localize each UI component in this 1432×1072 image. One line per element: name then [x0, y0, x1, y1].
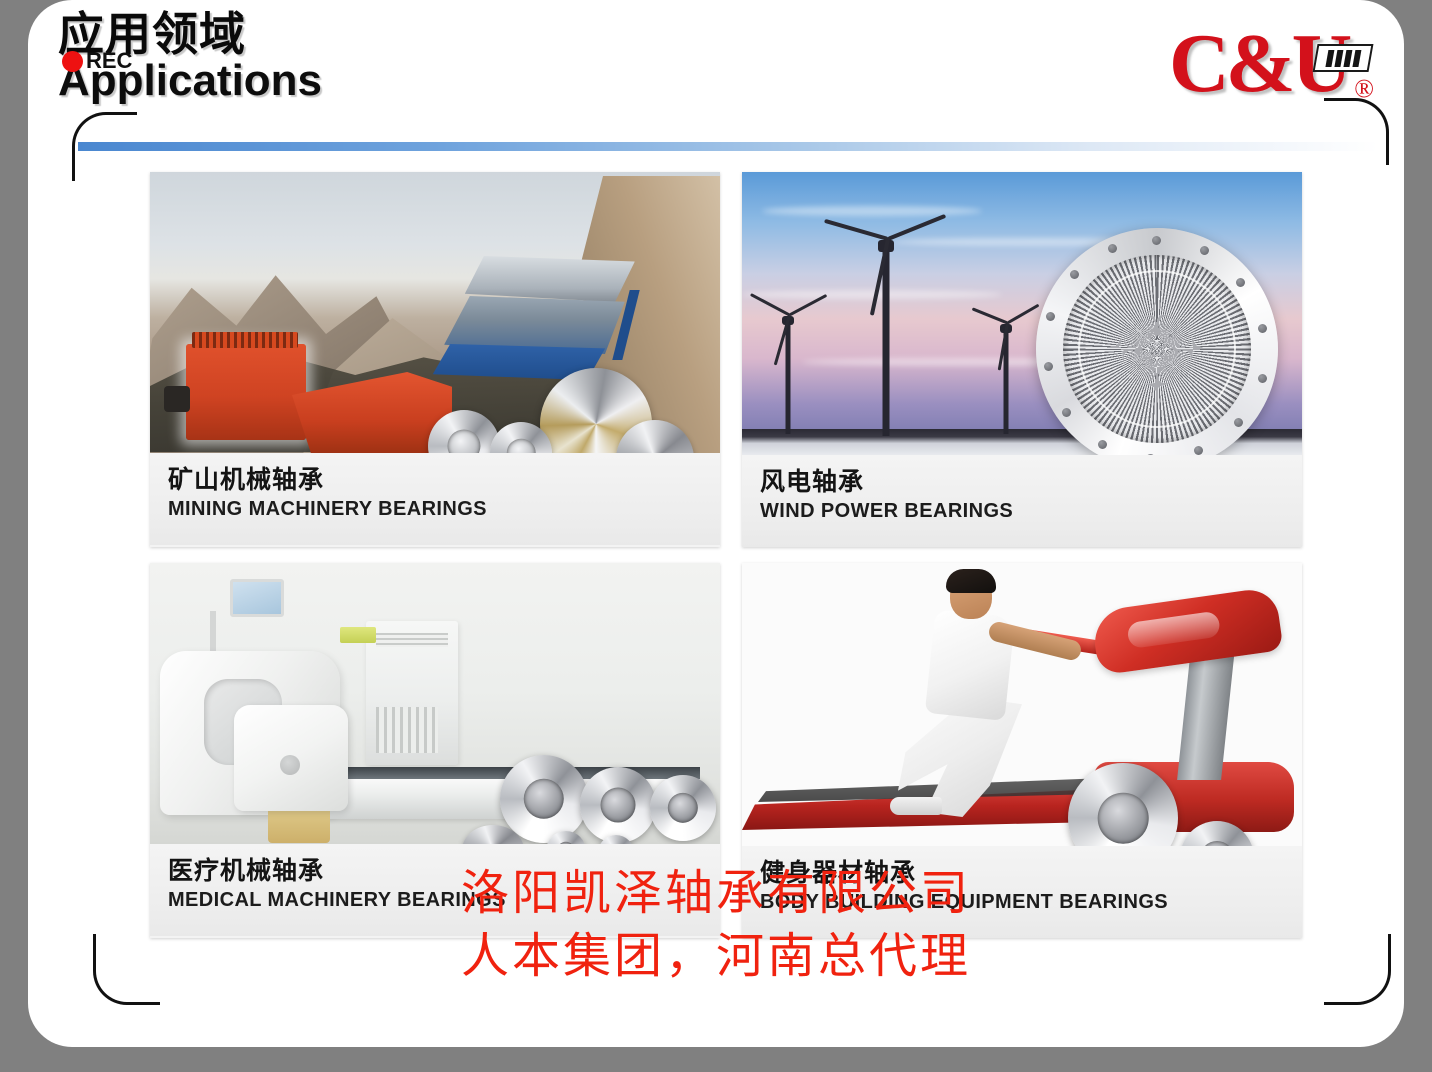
medical-cabinet-illustration	[366, 621, 458, 765]
wind-turbine	[986, 320, 1026, 432]
slide-panel: 应用领域 Applications REC C&U ®	[28, 0, 1404, 1047]
card-photo-wind-power	[742, 172, 1302, 455]
wind-turbine	[856, 236, 916, 434]
card-photo-body-building	[742, 563, 1302, 846]
card-title-en: BODY BUILDING EQUIPMENT BEARINGS	[760, 890, 1302, 915]
application-card-wind-power[interactable]: 风电轴承 WIND POWER BEARINGS	[742, 172, 1302, 547]
card-title-en: WIND POWER BEARINGS	[760, 499, 1302, 524]
card-title-cn: 健身器材轴承	[760, 858, 1302, 888]
deep-groove-ball-bearing	[580, 767, 656, 843]
corner-bracket-top-right	[1324, 98, 1389, 165]
card-caption-mining: 矿山机械轴承 MINING MACHINERY BEARINGS	[150, 453, 720, 545]
rec-indicator: REC	[62, 50, 132, 72]
brand-logo: C&U ®	[1169, 22, 1374, 106]
card-title-en: MINING MACHINERY BEARINGS	[168, 497, 720, 522]
card-caption-medical: 医疗机械轴承 MEDICAL MACHINERY BEARINGS	[150, 844, 720, 936]
card-caption-body-building: 健身器材轴承 BODY BUILDING EQUIPMENT BEARINGS	[742, 846, 1302, 938]
wind-turbine	[768, 312, 808, 432]
corner-bracket-top-left	[72, 112, 137, 181]
card-title-cn: 矿山机械轴承	[168, 465, 720, 495]
deep-groove-ball-bearing	[650, 775, 716, 841]
jaw-crusher-illustration	[186, 344, 306, 440]
deep-groove-ball-bearing	[500, 755, 588, 843]
application-card-mining[interactable]: 矿山机械轴承 MINING MACHINERY BEARINGS	[150, 172, 720, 547]
monitor-illustration	[230, 579, 284, 617]
slewing-ring-bearing	[1036, 228, 1278, 455]
corner-bracket-bottom-right	[1324, 934, 1391, 1005]
application-card-body-building[interactable]: 健身器材轴承 BODY BUILDING EQUIPMENT BEARINGS	[742, 563, 1302, 938]
logo-bars-icon	[1313, 44, 1374, 72]
card-caption-wind-power: 风电轴承 WIND POWER BEARINGS	[742, 455, 1302, 547]
slide-header: 应用领域 Applications REC C&U ®	[28, 0, 1404, 152]
application-card-medical[interactable]: 医疗机械轴承 MEDICAL MACHINERY BEARINGS	[150, 563, 720, 938]
corner-bracket-bottom-left	[93, 934, 160, 1005]
card-title-cn: 医疗机械轴承	[168, 856, 720, 886]
rec-label: REC	[86, 50, 132, 72]
header-divider	[78, 142, 1378, 151]
record-dot-icon	[62, 51, 83, 72]
card-photo-medical	[150, 563, 720, 844]
person-walking-illustration	[884, 569, 1064, 821]
slide-canvas: 应用领域 Applications REC C&U ®	[0, 0, 1432, 1072]
applications-grid: 矿山机械轴承 MINING MACHINERY BEARINGS	[150, 172, 1302, 938]
card-photo-mining	[150, 172, 720, 453]
card-title-cn: 风电轴承	[760, 467, 1302, 497]
card-title-en: MEDICAL MACHINERY BEARINGS	[168, 888, 720, 913]
screening-plant-illustration	[430, 256, 652, 386]
